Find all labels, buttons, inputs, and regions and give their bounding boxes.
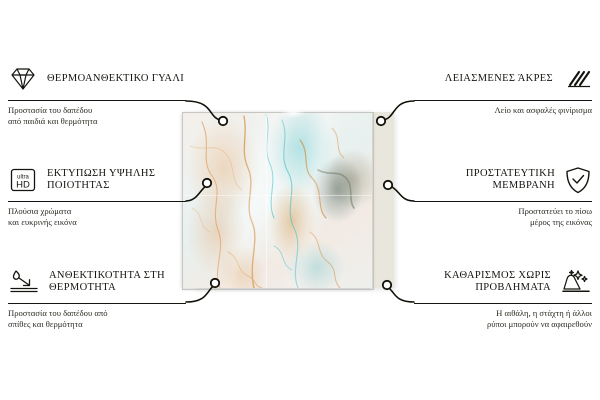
feature-divider [414,201,592,202]
ultra-hd-icon: ultra HD [8,166,38,194]
feature-description: Πλούσια χρώματα και ευκρινής εικόνα [8,206,186,227]
infographic-canvas: ΘΕΡΜΟΑΝΘΕΚΤΙΚΟ ΓΥΑΛΙ Προστασία του δαπέδ… [0,0,600,400]
feature-description: Προστασία του δαπέδου από σπίθες και θερ… [8,308,186,329]
feature-easy-cleaning: ΚΑΘΑΡΙΣΜΟΣ ΧΩΡΙΣ ΠΡΟΒΛΗΜΑΤΑ Η αιθάλη, η … [414,265,592,329]
smooth-edges-icon [562,65,592,93]
glass-print-surface [182,112,372,288]
feature-description: Προστασία του δαπέδου από παιδιά και θερ… [8,105,186,126]
feature-high-quality-print: ultra HD ΕΚΤΥΠΩΣΗ ΥΨΗΛΗΣ ΠΟΙΟΤΗΤΑΣ Πλούσ… [8,163,186,227]
feature-description: Προστατεύει το πίσω μέρος της εικόνας [414,206,592,227]
svg-text:HD: HD [16,179,30,190]
marble-veins [182,112,372,288]
feature-title: ΕΚΤΥΠΩΣΗ ΥΨΗΛΗΣ ΠΟΙΟΤΗΤΑΣ [47,168,186,193]
feature-divider [414,100,592,101]
shield-check-icon [564,165,592,195]
easy-cleaning-icon [560,268,592,296]
feature-divider [8,100,186,101]
feature-title: ΚΑΘΑΡΙΣΜΟΣ ΧΩΡΙΣ ΠΡΟΒΛΗΜΑΤΑ [414,270,551,295]
feature-title: ΛΕΙΑΣΜΕΝΕΣ ΆΚΡΕΣ [445,73,553,86]
feature-smooth-edges: ΛΕΙΑΣΜΕΝΕΣ ΆΚΡΕΣ Λείο και ασφαλές φινίρι… [414,62,592,116]
feature-title: ΠΡΟΣΤΑΤΕΥΤΙΚΗ ΜΕΜΒΡΑΝΗ [414,168,555,193]
feature-description: Λείο και ασφαλές φινίρισμα [414,105,592,116]
feature-heat-durability: ΑΝΘΕΚΤΙΚΟΤΗΤΑ ΣΤΗ ΘΕΡΜΟΤΗΤΑ Προστασία το… [8,265,186,329]
product-image [182,108,400,288]
feature-title: ΑΝΘΕΚΤΙΚΟΤΗΤΑ ΣΤΗ ΘΕΡΜΟΤΗΤΑ [49,270,186,295]
feature-description: Η αιθάλη, η στάχτη ή άλλοι ρύποι μπορούν… [414,308,592,329]
feature-divider [8,303,186,304]
feature-divider [8,201,186,202]
heat-resistance-icon [8,268,40,296]
feature-divider [414,303,592,304]
diamond-icon [8,65,38,93]
feature-title: ΘΕΡΜΟΑΝΘΕΚΤΙΚΟ ΓΥΑΛΙ [47,73,184,86]
feature-protective-membrane: ΠΡΟΣΤΑΤΕΥΤΙΚΗ ΜΕΜΒΡΑΝΗ Προστατεύει το πί… [414,163,592,227]
feature-heat-resistant-glass: ΘΕΡΜΟΑΝΘΕΚΤΙΚΟ ΓΥΑΛΙ Προστασία του δαπέδ… [8,62,186,126]
